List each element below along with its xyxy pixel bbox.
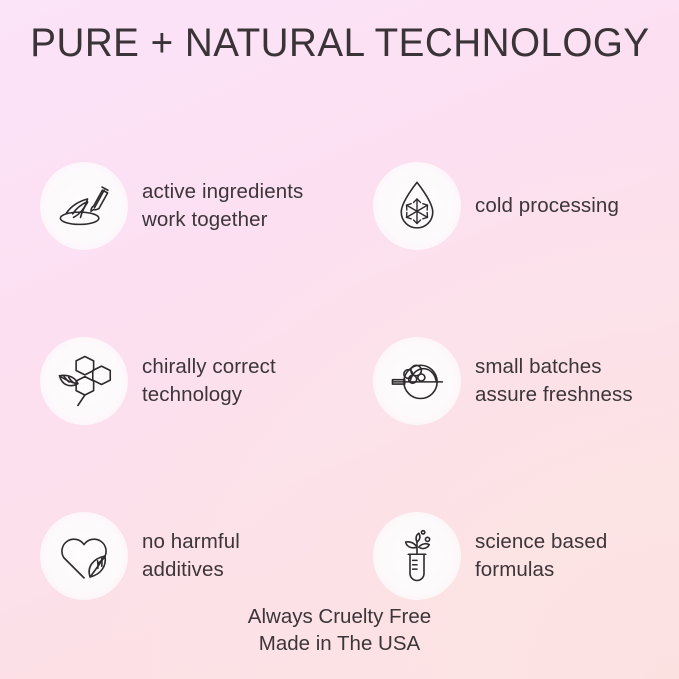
- poster: PURE + NATURAL TECHNOLOGY active ingredi…: [0, 0, 679, 679]
- spoon-batch-icon: [389, 353, 445, 409]
- feature-grid: active ingredients work together: [40, 118, 664, 643]
- feature-item-cold-processing: cold processing: [363, 118, 664, 293]
- molecule-leaf-icon: [56, 353, 112, 409]
- feature-label: chirally correct technology: [142, 353, 276, 407]
- icon-disc: [373, 162, 461, 250]
- feature-item-chirally-correct: chirally correct technology: [40, 293, 341, 468]
- test-tube-plant-icon: [389, 528, 445, 584]
- page-title-container: PURE + NATURAL TECHNOLOGY: [0, 22, 679, 65]
- feature-item-active-ingredients: active ingredients work together: [40, 118, 341, 293]
- feature-label: science based formulas: [475, 528, 607, 582]
- feature-label: no harmful additives: [142, 528, 240, 582]
- dropper-leaf-dish-icon: [56, 178, 112, 234]
- icon-disc: [40, 512, 128, 600]
- page-title: PURE + NATURAL TECHNOLOGY: [30, 22, 649, 65]
- icon-disc: [40, 337, 128, 425]
- icon-disc: [40, 162, 128, 250]
- feature-label: cold processing: [475, 192, 619, 219]
- heart-leaf-icon: [56, 528, 112, 584]
- icon-disc: [373, 512, 461, 600]
- icon-disc: [373, 337, 461, 425]
- snowflake-droplet-icon: [389, 178, 445, 234]
- feature-item-small-batches: small batches assure freshness: [363, 293, 664, 468]
- footer-text: Always Cruelty Free Made in The USA: [0, 603, 679, 658]
- feature-label: active ingredients work together: [142, 178, 303, 232]
- feature-label: small batches assure freshness: [475, 353, 633, 407]
